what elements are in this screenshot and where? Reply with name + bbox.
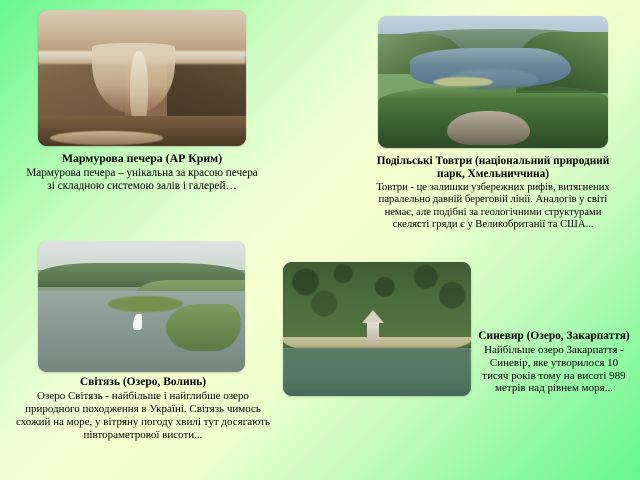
- sailboat-icon: [133, 314, 142, 330]
- synevyr-lake-photo[interactable]: [283, 262, 471, 396]
- synevyr-water-reflection: [283, 348, 471, 396]
- synevyr-lake-body: Найбільше озеро Закарпаття - Синевір, як…: [478, 344, 630, 395]
- svityaz-reeds-right: [166, 304, 241, 351]
- gazebo-body: [367, 322, 379, 344]
- marble-cave-photo[interactable]: [38, 10, 246, 146]
- slide-canvas: Мармурова печера (АР Крим) Мармурова печ…: [0, 0, 640, 480]
- marble-cave-title: Мармурова печера (АР Крим): [22, 152, 262, 166]
- marble-cave-body: Мармурова печера – унікальна за красою п…: [22, 167, 262, 193]
- podilski-tovtry-caption: Подільські Товтри (національний природни…: [368, 155, 618, 231]
- cave-floor-slab: [50, 131, 162, 145]
- podilski-tovtry-title: Подільські Товтри (національний природни…: [368, 155, 618, 181]
- svityaz-lake-caption: Світязь (Озеро, Волинь) Озеро Світязь - …: [12, 376, 274, 441]
- podilski-tovtry-body: Товтри - це залишки узбережних рифів, ви…: [368, 182, 618, 231]
- synevyr-lake-title: Синевир (Озеро, Закарпаття): [478, 330, 630, 343]
- svityaz-lake-photo[interactable]: [38, 241, 245, 372]
- marble-cave-caption: Мармурова печера (АР Крим) Мармурова печ…: [22, 152, 262, 193]
- gazebo-icon: [362, 310, 384, 346]
- tovtry-limestone-rock: [447, 111, 530, 145]
- podilski-tovtry-photo[interactable]: [378, 16, 608, 148]
- svityaz-reeds-middle: [108, 296, 183, 312]
- svityaz-lake-title: Світязь (Озеро, Волинь): [12, 376, 274, 389]
- svityaz-lake-body: Озеро Світязь - найбільше і найглибше оз…: [12, 390, 274, 441]
- synevyr-lake-caption: Синевир (Озеро, Закарпаття) Найбільше оз…: [478, 330, 630, 395]
